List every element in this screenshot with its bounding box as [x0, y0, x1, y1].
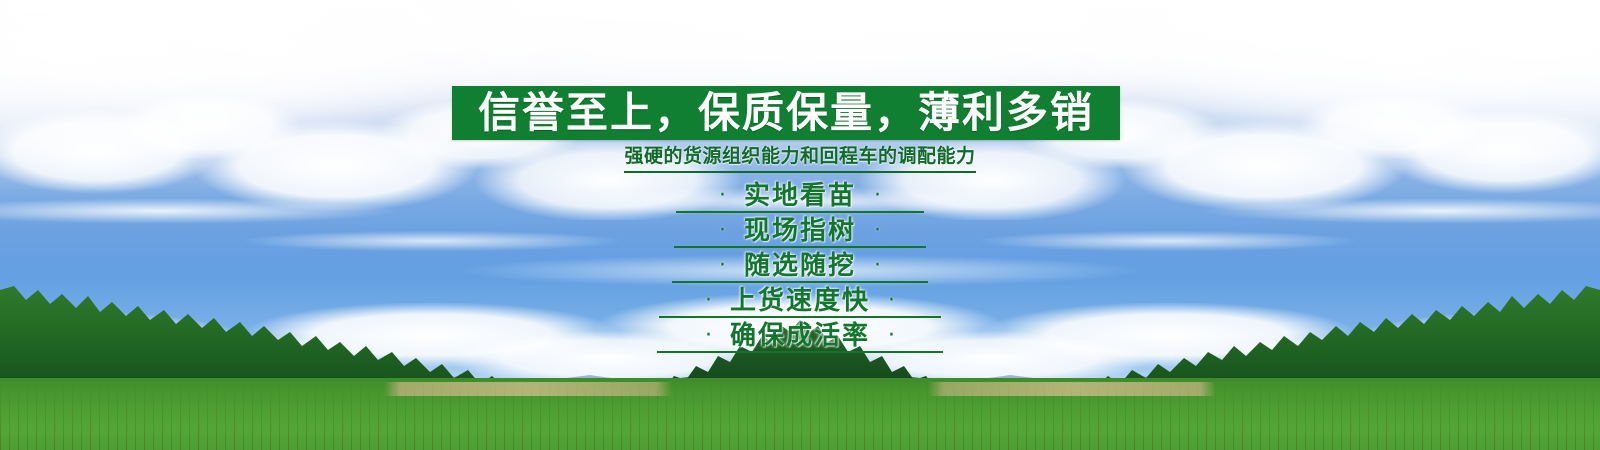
bullet-dot-right: · [874, 185, 881, 207]
bullet-dot-left: · [719, 255, 726, 277]
bullet-dot-left: · [719, 220, 726, 242]
nursery-promo-banner: 信誉至上，保质保量，薄利多销 强硬的货源组织能力和回程车的调配能力 · 实地看苗… [0, 0, 1600, 450]
headline-text: 信誉至上，保质保量，薄利多销 [478, 92, 1094, 134]
feature-list: · 实地看苗 · · 现场指树 · · 随选随挖 · · 上货速度快 · [0, 178, 1600, 353]
feature-label: 上货速度快 [730, 288, 870, 314]
feature-row: · 现场指树 · [0, 213, 1600, 248]
bullet-dot-left: · [705, 290, 712, 312]
headline-banner: 信誉至上，保质保量，薄利多销 [452, 86, 1120, 140]
subtitle-text: 强硬的货源组织能力和回程车的调配能力 [624, 145, 975, 173]
feature-label: 确保成活率 [730, 323, 870, 349]
banner-text-content: 信誉至上，保质保量，薄利多销 强硬的货源组织能力和回程车的调配能力 · 实地看苗… [0, 0, 1600, 450]
bullet-dot-left: · [719, 185, 726, 207]
feature-label: 随选随挖 [744, 253, 856, 279]
feature-label: 现场指树 [744, 218, 856, 244]
feature-label: 实地看苗 [744, 183, 856, 209]
bullet-dot-right: · [888, 325, 895, 347]
bullet-dot-right: · [874, 255, 881, 277]
feature-row: · 随选随挖 · [0, 248, 1600, 283]
bullet-dot-left: · [705, 325, 712, 347]
bullet-dot-right: · [888, 290, 895, 312]
feature-row: · 上货速度快 · [0, 283, 1600, 318]
bullet-dot-right: · [874, 220, 881, 242]
feature-row: · 确保成活率 · [0, 318, 1600, 353]
feature-underline [657, 351, 943, 353]
subtitle-row: 强硬的货源组织能力和回程车的调配能力 [0, 145, 1600, 173]
feature-row: · 实地看苗 · [0, 178, 1600, 213]
